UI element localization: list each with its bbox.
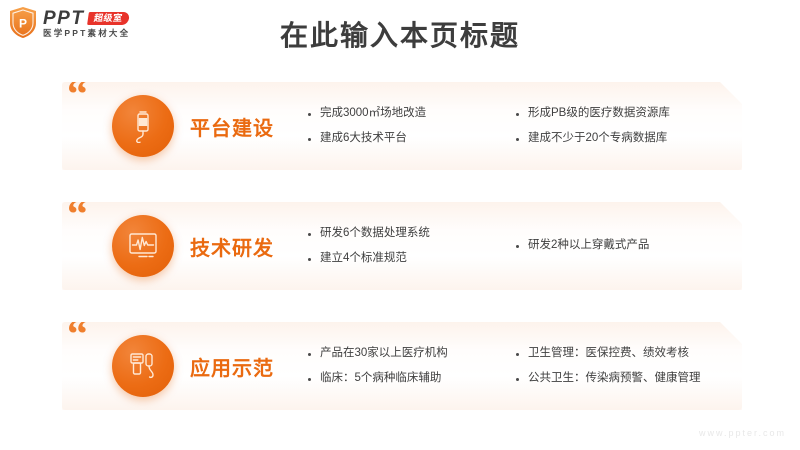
list-item-label: 建立4个标准规范 (320, 252, 407, 266)
bullet-column-left: 产品在30家以上医疗机构 临床：5个病种临床辅助 (308, 347, 516, 386)
list-item-label: 公共卫生：传染病预警、健康管理 (528, 372, 701, 386)
card-application-demonstration[interactable]: “ 应用示范 (62, 322, 742, 410)
list-item: 临床：5个病种临床辅助 (308, 372, 516, 386)
bullet-dot-icon (516, 353, 519, 356)
bullet-dot-icon (308, 113, 311, 116)
bullet-column-right: 形成PB级的医疗数据资源库 建成不少于20个专病数据库 (516, 107, 766, 146)
quote-mark-icon: “ (67, 314, 88, 356)
blood-pressure-monitor-icon (112, 335, 174, 397)
bullet-column-right: 卫生管理：医保控费、绩效考核 公共卫生：传染病预警、健康管理 (516, 347, 766, 386)
bullet-dot-icon (308, 138, 311, 141)
bullet-dot-icon (308, 378, 311, 381)
site-watermark: www.ppter.com (699, 428, 786, 438)
card-title: 平台建设 (190, 112, 308, 141)
bullet-column-right: 研发2种以上穿戴式产品 (516, 239, 766, 253)
list-item: 形成PB级的医疗数据资源库 (516, 107, 766, 121)
card-bullets: 完成3000㎡场地改造 建成6大技术平台 形成PB级的医疗数据资源库 (308, 107, 782, 146)
iv-drip-icon (112, 95, 174, 157)
list-item: 研发6个数据处理系统 (308, 227, 516, 241)
list-item: 公共卫生：传染病预警、健康管理 (516, 372, 766, 386)
card-technology-rnd[interactable]: “ 技术研发 (62, 202, 742, 290)
card-title: 技术研发 (190, 232, 308, 261)
list-item: 研发2种以上穿戴式产品 (516, 239, 766, 253)
bullet-dot-icon (516, 378, 519, 381)
list-item-label: 完成3000㎡场地改造 (320, 107, 426, 121)
list-item: 建成6大技术平台 (308, 132, 516, 146)
list-item: 建成不少于20个专病数据库 (516, 132, 766, 146)
list-item-label: 建成不少于20个专病数据库 (528, 132, 667, 146)
list-item: 完成3000㎡场地改造 (308, 107, 516, 121)
card-title: 应用示范 (190, 352, 308, 381)
bullet-dot-icon (516, 113, 519, 116)
list-item-label: 研发2种以上穿戴式产品 (528, 239, 649, 253)
list-item-label: 研发6个数据处理系统 (320, 227, 430, 241)
bullet-column-left: 研发6个数据处理系统 建立4个标准规范 (308, 227, 516, 266)
bullet-dot-icon (308, 353, 311, 356)
bullet-dot-icon (308, 233, 311, 236)
ecg-monitor-icon (112, 215, 174, 277)
card-platform-construction[interactable]: “ 平台建设 (62, 82, 742, 170)
slide-canvas: P PPT 超级室 医学PPT素材大全 在此输入本页标题 “ (0, 0, 800, 450)
quote-mark-icon: “ (67, 194, 88, 236)
list-item: 产品在30家以上医疗机构 (308, 347, 516, 361)
list-item-label: 建成6大技术平台 (320, 132, 407, 146)
card-bullets: 产品在30家以上医疗机构 临床：5个病种临床辅助 卫生管理：医保控费、绩效考核 (308, 347, 782, 386)
bullet-dot-icon (516, 138, 519, 141)
list-item-label: 形成PB级的医疗数据资源库 (528, 107, 670, 121)
bullet-dot-icon (516, 245, 519, 248)
list-item-label: 临床：5个病种临床辅助 (320, 372, 441, 386)
bullet-dot-icon (308, 258, 311, 261)
card-list: “ 平台建设 (62, 82, 742, 442)
list-item: 建立4个标准规范 (308, 252, 516, 266)
list-item-label: 产品在30家以上医疗机构 (320, 347, 448, 361)
bullet-column-left: 完成3000㎡场地改造 建成6大技术平台 (308, 107, 516, 146)
list-item-label: 卫生管理：医保控费、绩效考核 (528, 347, 689, 361)
list-item: 卫生管理：医保控费、绩效考核 (516, 347, 766, 361)
page-title: 在此输入本页标题 (0, 18, 800, 53)
quote-mark-icon: “ (67, 74, 88, 116)
card-bullets: 研发6个数据处理系统 建立4个标准规范 研发2种以上穿戴式产品 (308, 227, 782, 266)
